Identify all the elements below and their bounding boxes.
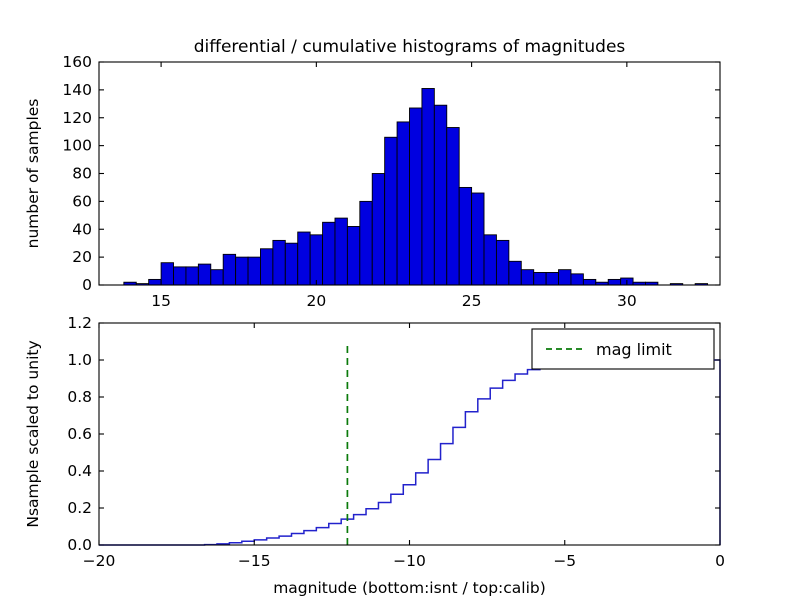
panel-differential-histogram: 02040608010012014016015202530number of s… [24,53,720,310]
x-tick-label: 30 [617,292,637,310]
histogram-bar [223,254,235,285]
histogram-bar [298,232,310,285]
y-tick-label: 0.8 [67,388,92,406]
x-tick-label: −20 [83,552,116,570]
matplotlib-figure: differential / cumulative histograms of … [0,0,800,600]
histogram-bar [534,272,546,285]
histogram-bar [559,270,571,285]
legend[interactable]: mag limit [532,329,714,369]
x-tick-label: 0 [715,552,725,570]
x-tick-label: 15 [151,292,171,310]
legend-label-mag-limit: mag limit [596,340,672,359]
panel-cumulative-histogram: 0.00.20.40.60.81.01.2−20−15−10−50Nsample… [24,314,725,597]
y-tick-label: 0.6 [67,425,92,443]
y-tick-label: 60 [72,192,92,210]
histogram-bar [285,243,297,285]
histogram-bar [323,222,335,285]
histogram-bar [571,274,583,285]
y-tick-label: 100 [62,137,92,155]
y-axis-label-bottom: Nsample scaled to unity [24,340,42,527]
histogram-bar [397,122,409,285]
y-axis-label-top: number of samples [24,99,42,249]
histogram-bar [260,249,272,285]
histogram-bar [310,235,322,285]
histogram-bar [546,272,558,285]
histogram-bar [422,88,434,285]
y-tick-label: 160 [62,53,92,71]
figure-canvas: differential / cumulative histograms of … [0,0,800,600]
y-tick-label: 1.0 [67,351,92,369]
histogram-bar [583,279,595,285]
histogram-bar [198,264,210,285]
x-tick-label: −5 [553,552,576,570]
y-tick-label: 20 [72,248,92,266]
histogram-bar [372,174,384,286]
histogram-bar [149,279,161,285]
histogram-bar [174,267,186,285]
y-tick-label: 120 [62,109,92,127]
figure-title: differential / cumulative histograms of … [194,37,626,57]
histogram-bar [273,240,285,285]
histogram-bar [509,261,521,285]
histogram-bar [347,226,359,285]
histogram-bar [161,263,173,285]
histogram-bar [236,257,248,285]
y-tick-label: 80 [72,165,92,183]
x-tick-label: −10 [393,552,426,570]
histogram-bar [385,137,397,285]
x-tick-label: 20 [306,292,326,310]
histogram-bar [484,235,496,285]
histogram-bar [410,108,422,285]
histogram-bar [459,187,471,285]
y-tick-label: 140 [62,81,92,99]
x-tick-label: −15 [238,552,271,570]
x-tick-label: 25 [462,292,482,310]
cumulative-curve [99,360,720,545]
histogram-bar [434,105,446,285]
histogram-bar [472,193,484,285]
histogram-bar [360,201,372,285]
histogram-bar [496,240,508,285]
x-axis-label: magnitude (bottom:isnt / top:calib) [273,579,546,597]
y-tick-label: 0.2 [67,499,92,517]
histogram-bar [248,257,260,285]
y-tick-label: 0.4 [67,462,92,480]
histogram-bar [335,218,347,285]
histogram-bar [447,128,459,285]
histogram-bar [211,270,223,285]
histogram-bars [124,88,708,285]
y-tick-label: 1.2 [67,314,92,332]
histogram-bar [608,279,620,285]
y-tick-label: 0 [82,276,92,294]
histogram-bar [521,270,533,285]
y-tick-label: 40 [72,220,92,238]
histogram-bar [186,267,198,285]
